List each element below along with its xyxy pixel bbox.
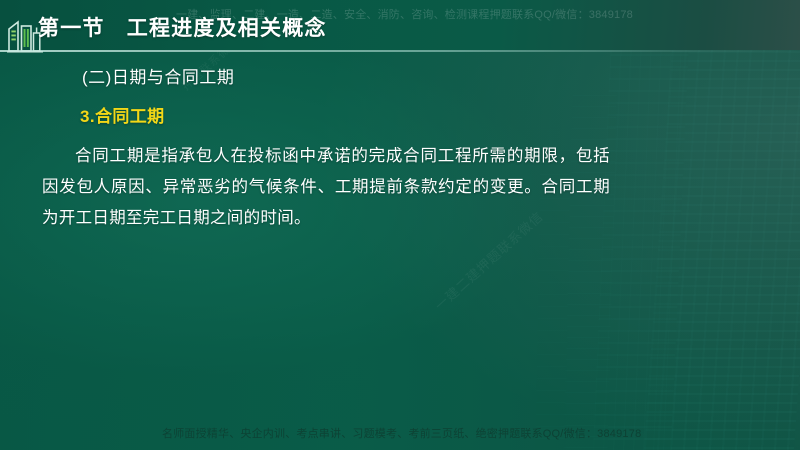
top-watermark: 一建、监理、二建、一造、二造、安全、消防、咨询、检测课程押题联系QQ/微信：38… — [176, 6, 633, 22]
header-divider — [0, 50, 800, 52]
point-heading: 3.合同工期 — [0, 88, 800, 127]
section-sub-heading: (二)日期与合同工期 — [0, 56, 800, 88]
slide-canvas: 一建二建押题联系微信 押题联系微信 第一节 工程进度及相关概念 一建、监理、二建… — [0, 0, 800, 450]
slide-header-bar: 第一节 工程进度及相关概念 一建、监理、二建、一造、二造、安全、消防、咨询、检测… — [0, 0, 800, 50]
slide-content: (二)日期与合同工期 3.合同工期 合同工期是指承包人在投标函中承诺的完成合同工… — [0, 56, 800, 234]
body-paragraph: 合同工期是指承包人在投标函中承诺的完成合同工程所需的期限，包括因发包人原因、异常… — [0, 127, 800, 234]
bottom-watermark: 名师面授精华、央企内训、考点串讲、习题模考、考前三页纸、绝密押题联系QQ/微信：… — [162, 425, 641, 441]
